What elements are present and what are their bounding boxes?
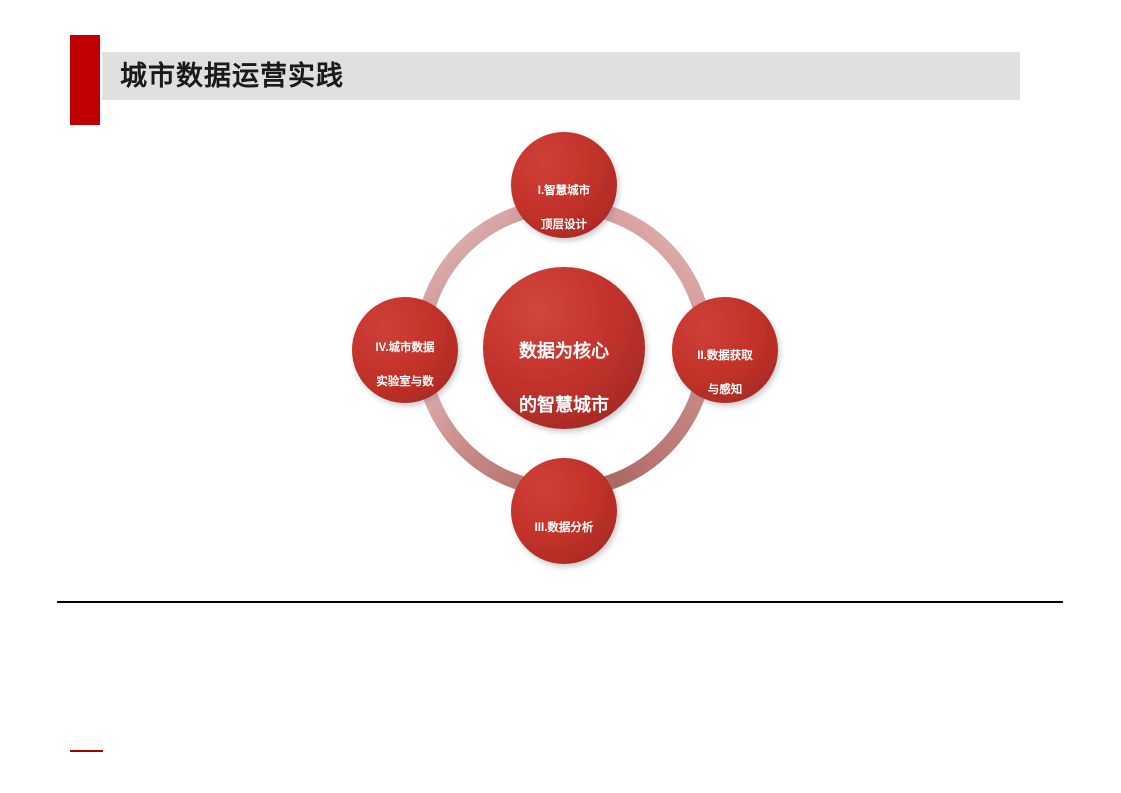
node-circle-top[interactable] (511, 132, 617, 238)
footer-mark (70, 750, 103, 752)
content-divider (57, 601, 1063, 603)
node-circle-center[interactable] (483, 267, 645, 429)
header-accent-bar (70, 35, 100, 125)
page-title: 城市数据运营实践 (120, 53, 344, 99)
node-circle-bottom[interactable] (511, 458, 617, 564)
node-circle-right[interactable] (672, 297, 778, 403)
cycle-diagram-canvas (330, 120, 800, 580)
node-circle-left[interactable] (352, 297, 458, 403)
cycle-diagram (330, 120, 800, 580)
